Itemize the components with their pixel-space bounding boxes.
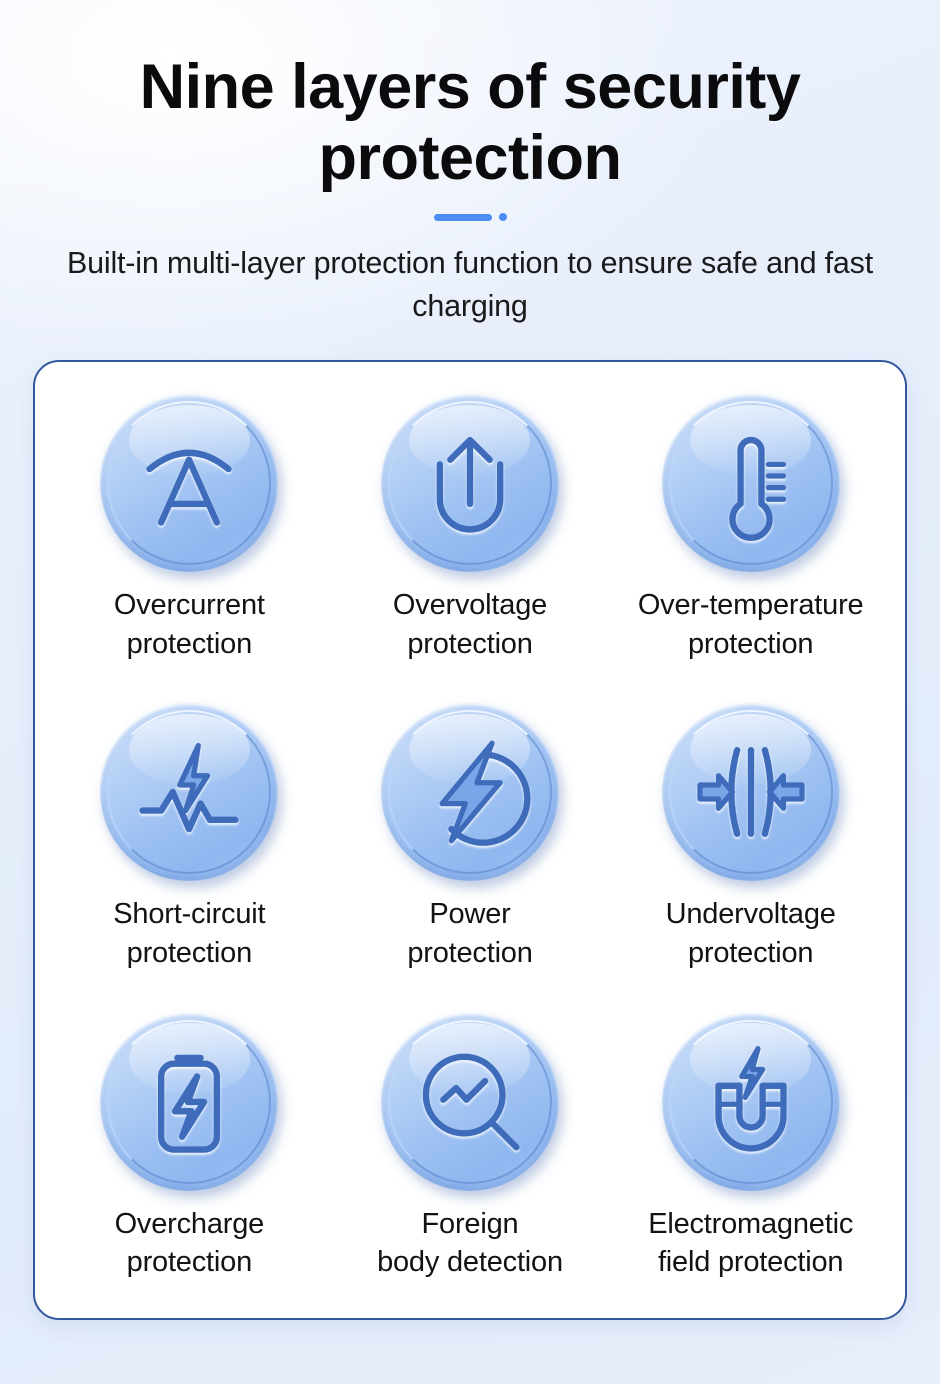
feature-label: Power protection: [407, 895, 532, 972]
feature-label: Foreign body detection: [377, 1205, 563, 1282]
divider-bar: [434, 214, 492, 221]
features-grid: Overcurrent protection Overvoltage prote…: [35, 362, 905, 1318]
feature-label: Overcharge protection: [115, 1205, 265, 1282]
feature-label: Short-circuit protection: [113, 895, 265, 972]
feature-icon-badge: [662, 703, 840, 881]
feature-item-electromagnetic[interactable]: Electromagnetic field protection: [610, 999, 891, 1308]
feature-icon-badge: [100, 1013, 278, 1191]
feature-item-foreign-body[interactable]: Foreign body detection: [330, 999, 611, 1308]
feature-icon-badge: [381, 703, 559, 881]
feature-icon-badge: [662, 1013, 840, 1191]
thermometer-icon: [693, 425, 809, 541]
feature-label: Over-temperature protection: [638, 586, 864, 663]
feature-item-overvoltage[interactable]: Overvoltage protection: [330, 380, 611, 689]
voltage-up-arrow-icon: [412, 425, 528, 541]
feature-label: Overcurrent protection: [114, 586, 265, 663]
page-subtitle: Built-in multi-layer protection function…: [0, 242, 940, 329]
feature-icon-badge: [100, 703, 278, 881]
features-card: Overcurrent protection Overvoltage prote…: [33, 360, 907, 1320]
feature-label: Undervoltage protection: [666, 895, 836, 972]
magnet-bolt-icon: [693, 1044, 809, 1160]
feature-item-overcurrent[interactable]: Overcurrent protection: [49, 380, 330, 689]
feature-icon-badge: [100, 394, 278, 572]
feature-item-power[interactable]: Power protection: [330, 689, 611, 998]
ampere-arc-icon: [131, 425, 247, 541]
feature-icon-badge: [662, 394, 840, 572]
page-header: Nine layers of security protection Built…: [0, 0, 940, 329]
feature-item-overcharge[interactable]: Overcharge protection: [49, 999, 330, 1308]
divider-dot: [499, 213, 507, 221]
title-divider: [0, 211, 940, 223]
battery-bolt-icon: [131, 1044, 247, 1160]
feature-icon-badge: [381, 394, 559, 572]
magnifier-wave-icon: [412, 1044, 528, 1160]
feature-label: Electromagnetic field protection: [648, 1205, 853, 1282]
feature-item-short-circuit[interactable]: Short-circuit protection: [49, 689, 330, 998]
feature-item-over-temperature[interactable]: Over-temperature protection: [610, 380, 891, 689]
page-title: Nine layers of security protection: [0, 52, 940, 193]
feature-item-undervoltage[interactable]: Undervoltage protection: [610, 689, 891, 998]
compress-arrows-icon: [693, 734, 809, 850]
waveform-bolt-icon: [131, 734, 247, 850]
bolt-circle-icon: [412, 734, 528, 850]
feature-icon-badge: [381, 1013, 559, 1191]
feature-label: Overvoltage protection: [393, 586, 547, 663]
